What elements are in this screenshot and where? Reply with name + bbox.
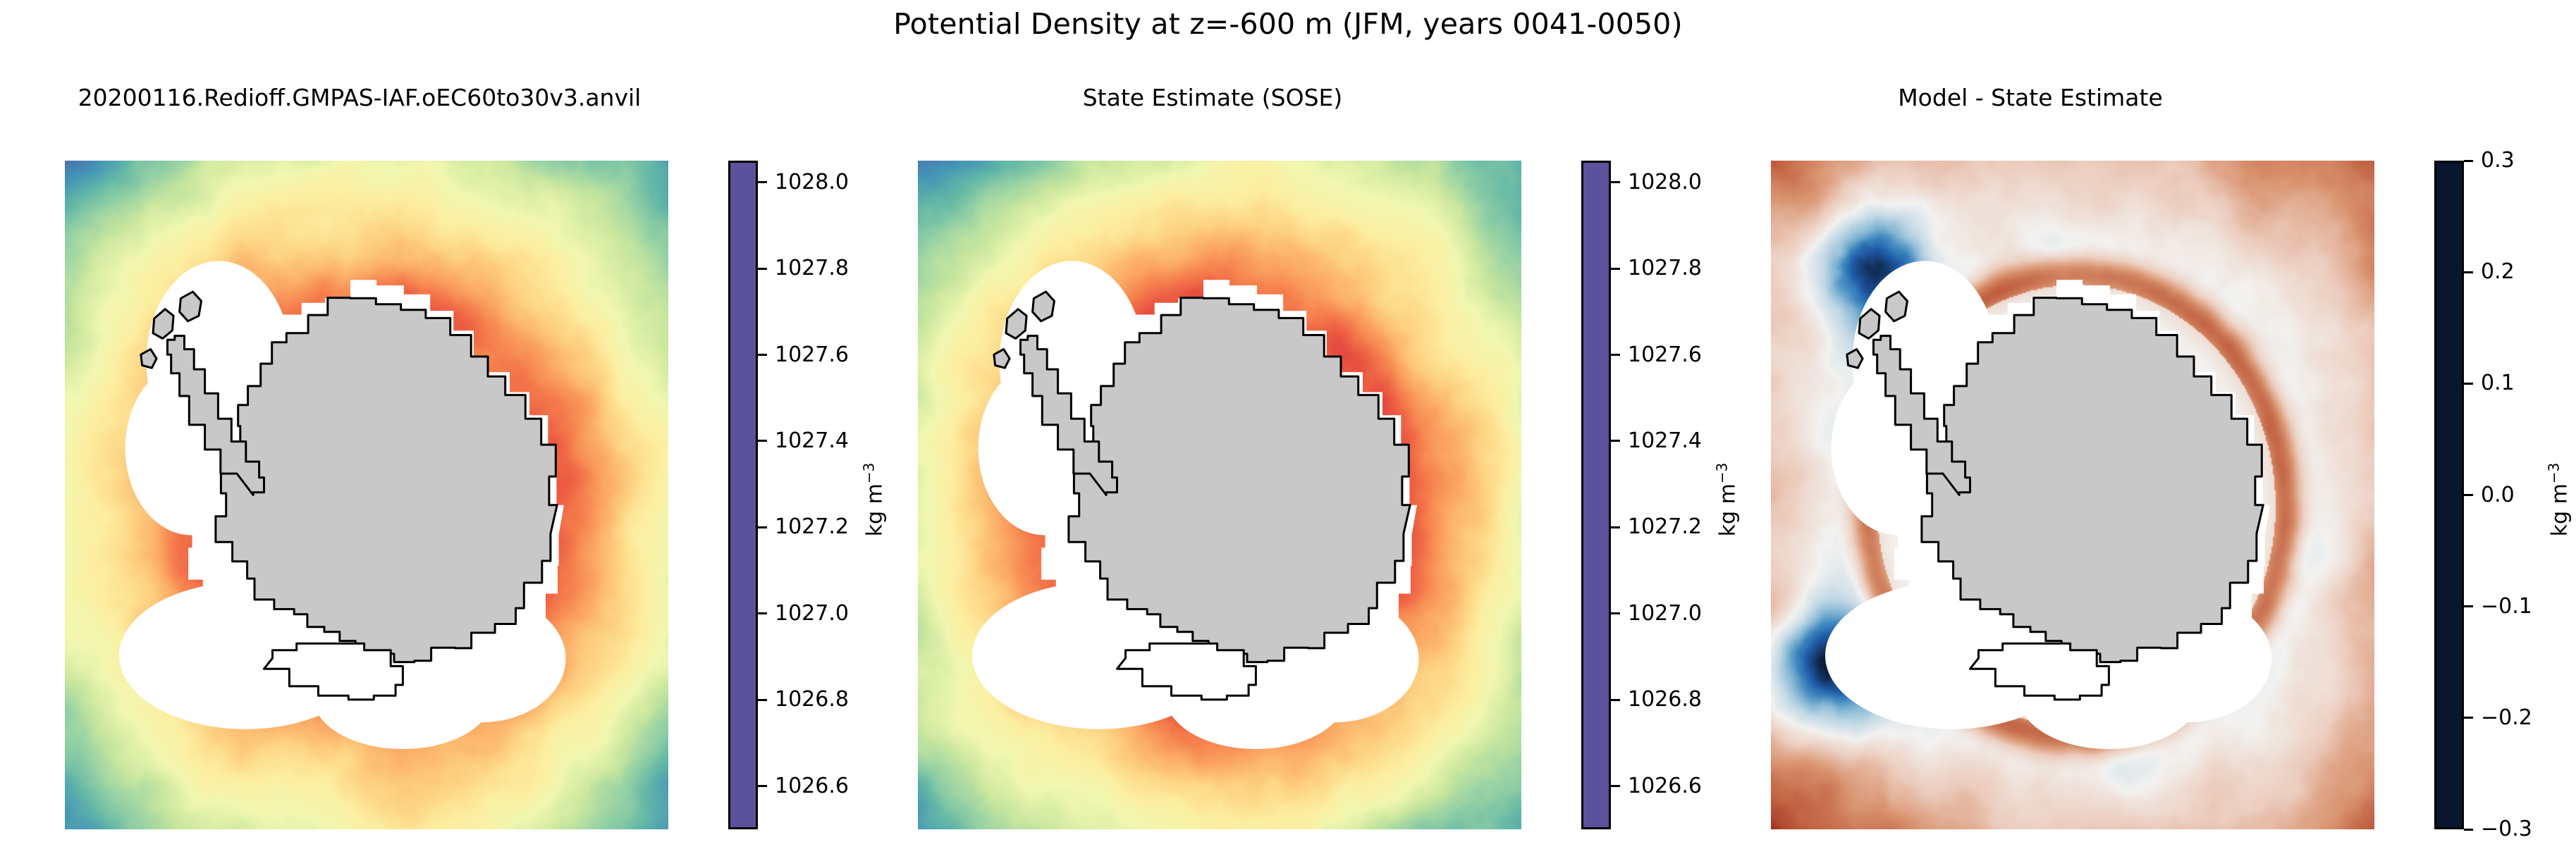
colorbar-tick-label: 0.1 <box>2481 373 2515 394</box>
colorbar-tick-label: −0.2 <box>2481 707 2532 729</box>
colorbar-tick-mark <box>1611 268 1620 270</box>
colorbar-axis-label-model: kg m−3 <box>864 463 885 537</box>
colorbar-tick-mark <box>2464 829 2473 831</box>
colorbar-tick-label: 1027.8 <box>775 258 849 279</box>
colorbar-tick-label: 1027.2 <box>775 516 849 538</box>
offshore-island <box>1886 292 1908 321</box>
colorbar-tick-mark <box>758 440 767 442</box>
antarctica-overlay-model <box>65 161 668 829</box>
colorbar-tick-label: −0.3 <box>2481 819 2532 840</box>
colorbar-tick-mark <box>1611 785 1620 787</box>
panel-title-sose: State Estimate (SOSE) <box>853 83 1572 113</box>
colorbar-tick-label: 1026.6 <box>775 776 849 797</box>
antarctica-overlay-sose <box>918 161 1521 829</box>
panel-title-model: 20200116.Redioff.GMPAS-IAF.oEC60to30v3.a… <box>0 83 719 113</box>
colorbar-model[interactable]: 1026.61026.81027.01027.21027.41027.61027… <box>728 161 758 829</box>
offshore-island <box>1033 292 1055 321</box>
colorbar-tick-label: 1027.4 <box>1628 431 1702 452</box>
colorbar-tick-mark <box>1611 440 1620 442</box>
map-panel-model[interactable] <box>65 161 668 829</box>
figure-suptitle: Potential Density at z=-600 m (JFM, year… <box>0 6 2576 42</box>
colorbar-tick-label: 1026.8 <box>1628 689 1702 710</box>
colorbar-tick-mark <box>2464 717 2473 719</box>
panel-title-difference: Model - State Estimate <box>1671 83 2390 113</box>
colorbar-tick-mark <box>2464 383 2473 385</box>
colorbar-tick-mark <box>2464 271 2473 273</box>
colorbar-tick-label: −0.1 <box>2481 596 2532 617</box>
colorbar-tick-label: 1027.0 <box>775 603 849 624</box>
colorbar-tick-mark <box>758 785 767 787</box>
map-panel-sose[interactable] <box>918 161 1521 829</box>
colorbar-tick-mark <box>2464 605 2473 607</box>
colorbar-tick-mark <box>758 699 767 701</box>
colorbar-tick-mark <box>758 268 767 270</box>
colorbar-sose[interactable]: 1026.61026.81027.01027.21027.41027.61027… <box>1581 161 1611 829</box>
colorbar-tick-mark <box>758 181 767 183</box>
colorbar-tick-mark <box>1611 354 1620 356</box>
colorbar-tick-label: 1027.0 <box>1628 603 1702 624</box>
colorbar-tick-label: 0.3 <box>2481 150 2515 171</box>
colorbar-tick-mark <box>758 354 767 356</box>
colorbar-tick-label: 0.2 <box>2481 261 2515 283</box>
colorbar-axis-label-sose: kg m−3 <box>1717 463 1738 537</box>
colorbar-tick-label: 1028.0 <box>1628 172 1702 193</box>
colorbar-tick-label: 1027.6 <box>775 345 849 366</box>
colorbar-tick-label: 0.0 <box>2481 485 2515 506</box>
colorbar-tick-mark <box>2464 160 2473 162</box>
colorbar-difference[interactable]: −0.3−0.2−0.10.00.10.20.3 kg m−3 <box>2434 161 2464 829</box>
colorbar-tick-label: 1027.8 <box>1628 258 1702 279</box>
offshore-island <box>180 292 202 321</box>
colorbar-tick-mark <box>2464 494 2473 496</box>
colorbar-gradient-difference <box>2434 161 2464 829</box>
colorbar-tick-mark <box>1611 612 1620 614</box>
colorbar-tick-label: 1026.8 <box>775 689 849 710</box>
colorbar-gradient-model <box>728 161 758 829</box>
colorbar-tick-label: 1028.0 <box>775 172 849 193</box>
colorbar-tick-label: 1027.2 <box>1628 516 1702 538</box>
colorbar-gradient-sose <box>1581 161 1611 829</box>
colorbar-tick-mark <box>758 612 767 614</box>
colorbar-tick-label: 1026.6 <box>1628 776 1702 797</box>
colorbar-tick-mark <box>1611 181 1620 183</box>
colorbar-tick-mark <box>758 526 767 528</box>
antarctica-overlay-difference <box>1771 161 2374 829</box>
colorbar-tick-mark <box>1611 699 1620 701</box>
colorbar-tick-label: 1027.4 <box>775 431 849 452</box>
map-panel-difference[interactable] <box>1771 161 2374 829</box>
colorbar-axis-label-difference: kg m−3 <box>2549 463 2570 537</box>
colorbar-tick-mark <box>1611 526 1620 528</box>
figure-canvas: Potential Density at z=-600 m (JFM, year… <box>0 0 2576 854</box>
colorbar-tick-label: 1027.6 <box>1628 345 1702 366</box>
